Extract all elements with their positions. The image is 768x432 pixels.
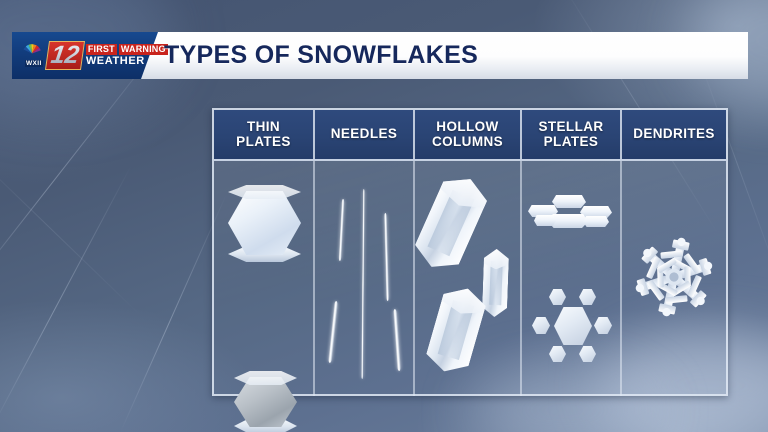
header-thin-plates: THINPLATES: [214, 110, 315, 159]
brand-weather: WEATHER: [86, 56, 168, 67]
cell-hollow-columns: [415, 161, 522, 396]
stellar-cluster-icon: [528, 195, 616, 231]
brand-warning: WARNING: [119, 44, 168, 55]
hex-prism-icon: [410, 169, 493, 276]
header-stellar-plates: STELLARPLATES: [522, 110, 622, 159]
needle-icon: [393, 309, 401, 371]
needle-icon: [384, 213, 389, 301]
title-banner: WXII 12 FIRST WARNING WEATHER TYPES OF S…: [12, 32, 748, 79]
dendrite-snowflake-icon: [628, 231, 720, 323]
page-title: TYPES OF SNOWFLAKES: [164, 32, 478, 79]
call-letters: WXII: [25, 60, 43, 67]
table-header-row: THINPLATES NEEDLES HOLLOWCOLUMNS STELLAR…: [214, 110, 726, 161]
cell-thin-plates: [214, 161, 315, 396]
station-logo: WXII 12 FIRST WARNING WEATHER: [20, 39, 168, 72]
channel-number: 12: [48, 41, 82, 69]
needle-icon: [338, 199, 344, 261]
needle-icon: [328, 301, 338, 363]
table-body-row: [214, 161, 726, 396]
header-hollow-columns: HOLLOWCOLUMNS: [415, 110, 522, 159]
nbc-peacock-icon: WXII: [20, 40, 44, 71]
header-needles: NEEDLES: [315, 110, 415, 159]
hex-plate-white-icon: [228, 191, 301, 255]
hex-prism-small-icon: [482, 249, 509, 318]
hex-plate-gray-icon: [234, 377, 297, 427]
snowflake-types-table: THINPLATES NEEDLES HOLLOWCOLUMNS STELLAR…: [212, 108, 728, 396]
brand-first: FIRST: [86, 44, 117, 55]
cell-stellar-plates: [522, 161, 622, 396]
channel-number-badge: 12: [45, 41, 85, 70]
header-dendrites: DENDRITES: [622, 110, 726, 159]
weather-graphic: WXII 12 FIRST WARNING WEATHER TYPES OF S…: [0, 0, 768, 432]
brand-text: FIRST WARNING WEATHER: [86, 44, 168, 67]
stellar-hexagon-icon: [532, 289, 612, 363]
hex-prism-icon: [423, 283, 489, 378]
needle-icon: [361, 189, 365, 379]
cell-dendrites: [622, 161, 726, 396]
cell-needles: [315, 161, 415, 396]
